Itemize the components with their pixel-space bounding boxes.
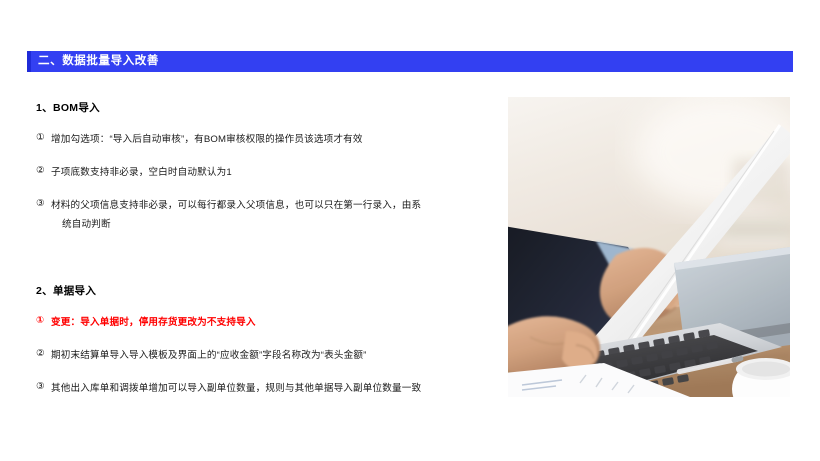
list-text: 子项底数支持非必录，空白时自动默认为1: [51, 163, 486, 182]
list-item: ② 子项底数支持非必录，空白时自动默认为1: [36, 163, 486, 182]
slide-canvas: 二、数据批量导入改善 1、BOM导入 ① 增加勾选项：“导入后自动审核”，有BO…: [0, 0, 820, 461]
list-text: 期初末结算单导入导入模板及界面上的“应收金额”字段名称改为“表头金额”: [51, 346, 486, 365]
list-item: ① 增加勾选项：“导入后自动审核”，有BOM审核权限的操作员该选项才有效: [36, 130, 486, 149]
list-text-line-1: 材料的父项信息支持非必录，可以每行都录入父项信息，也可以只在第一行录入，由系: [51, 200, 421, 211]
list-text: 变更：导入单据时，停用存货更改为不支持导入: [51, 313, 486, 332]
list-text: 材料的父项信息支持非必录，可以每行都录入父项信息，也可以只在第一行录入，由系 统…: [51, 196, 486, 234]
list-marker: ①: [36, 313, 51, 328]
list-marker: ③: [36, 196, 51, 211]
section-group-bom: 1、BOM导入 ① 增加勾选项：“导入后自动审核”，有BOM审核权限的操作员该选…: [36, 100, 486, 234]
section-banner: 二、数据批量导入改善: [27, 51, 793, 72]
section-title: 二、数据批量导入改善: [27, 51, 159, 72]
list-item-highlighted: ① 变更：导入单据时，停用存货更改为不支持导入: [36, 313, 486, 332]
list-marker: ②: [36, 346, 51, 361]
photo-illustration: [508, 97, 790, 397]
list-marker: ②: [36, 163, 51, 178]
slide-photo: [508, 97, 790, 397]
list-marker: ③: [36, 379, 51, 394]
list-text: 其他出入库单和调拨单增加可以导入副单位数量，规则与其他单据导入副单位数量一致: [51, 379, 486, 398]
list-item: ③ 材料的父项信息支持非必录，可以每行都录入父项信息，也可以只在第一行录入，由系…: [36, 196, 486, 234]
section-group-documents: 2、单据导入 ① 变更：导入单据时，停用存货更改为不支持导入 ② 期初末结算单导…: [36, 283, 486, 398]
group-heading-bom: 1、BOM导入: [36, 100, 486, 115]
list-item: ③ 其他出入库单和调拨单增加可以导入副单位数量，规则与其他单据导入副单位数量一致: [36, 379, 486, 398]
content-column: 1、BOM导入 ① 增加勾选项：“导入后自动审核”，有BOM审核权限的操作员该选…: [36, 100, 486, 398]
group-heading-documents: 2、单据导入: [36, 283, 486, 298]
list-text: 增加勾选项：“导入后自动审核”，有BOM审核权限的操作员该选项才有效: [51, 130, 486, 149]
section-spacer: [36, 234, 486, 283]
list-item: ② 期初末结算单导入导入模板及界面上的“应收金额”字段名称改为“表头金额”: [36, 346, 486, 365]
list-text-line-2: 统自动判断: [51, 215, 486, 234]
list-marker: ①: [36, 130, 51, 145]
